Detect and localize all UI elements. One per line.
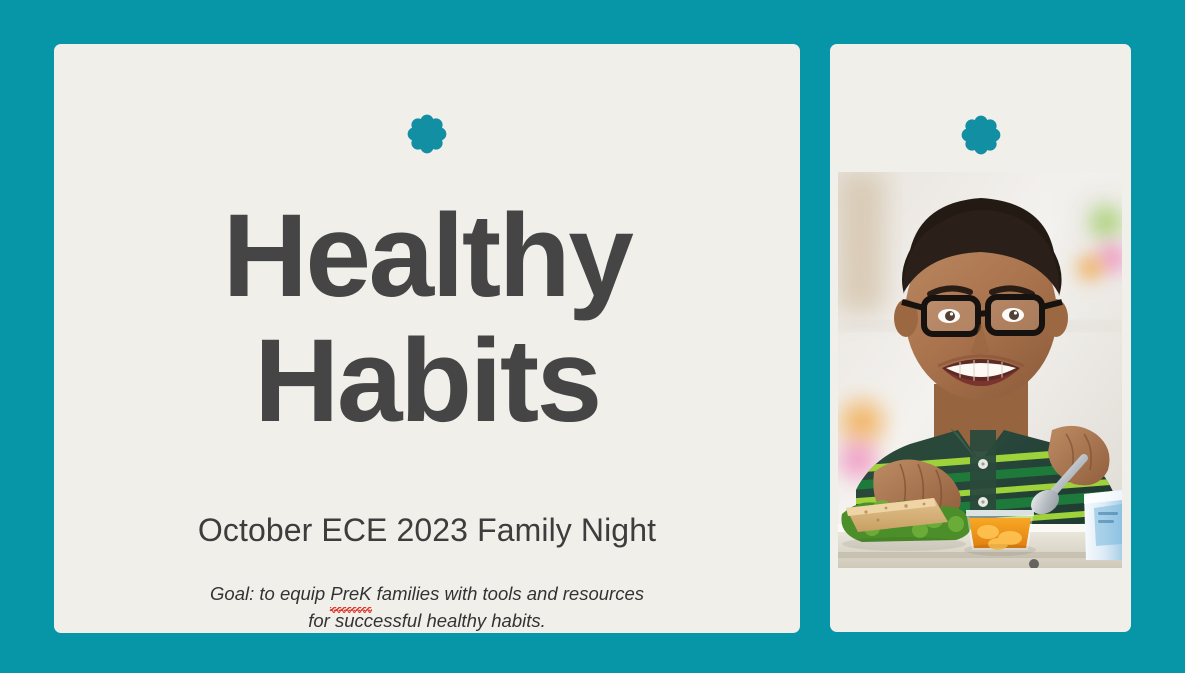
goal-line-1-suffix: families with tools and resources [372, 583, 644, 604]
spellcheck-word-prek: PreK [330, 580, 371, 607]
boy-eating-lunch-photo [838, 172, 1122, 568]
slide-canvas: Healthy Habits October ECE 2023 Family N… [0, 0, 1185, 673]
rosette-flower-icon [405, 112, 449, 156]
spellcheck-squiggle-icon [330, 607, 371, 613]
page-title: Healthy Habits [54, 194, 800, 444]
photo-card [830, 44, 1131, 632]
title-line-2: Habits [54, 319, 800, 444]
event-subtitle: October ECE 2023 Family Night [54, 510, 800, 550]
title-card: Healthy Habits October ECE 2023 Family N… [54, 44, 800, 633]
goal-line-1-prefix: Goal: to equip [210, 583, 330, 604]
goal-line-1: Goal: to equip PreK families with tools … [54, 580, 800, 607]
goal-line-2: for successful healthy habits. [54, 607, 800, 633]
rosette-flower-icon [959, 113, 1003, 157]
title-line-1: Healthy [54, 194, 800, 319]
goal-statement: Goal: to equip PreK families with tools … [54, 580, 800, 633]
goal-misspelled-word: PreK [330, 583, 371, 604]
